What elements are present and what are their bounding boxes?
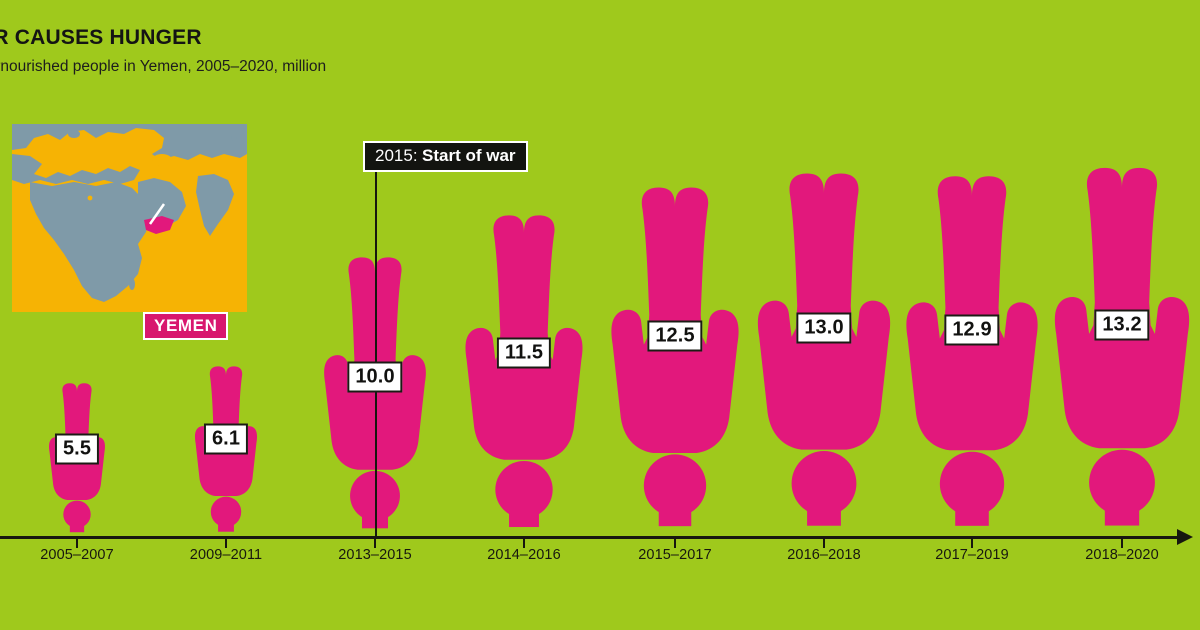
value-chip-label: 10.0	[355, 364, 394, 388]
infographic-canvas: AR CAUSES HUNGER dernourished people in …	[0, 0, 1200, 630]
value-chip-label: 13.0	[804, 316, 843, 340]
pictogram-neck	[70, 514, 84, 532]
map-island-madagascar	[125, 265, 131, 271]
value-chip: 6.1	[204, 424, 248, 455]
x-axis-tick-label: 2017–2019	[935, 547, 1008, 563]
map-label-text: YEMEN	[154, 316, 217, 335]
map-lake	[88, 196, 93, 201]
pictogram-neck	[509, 490, 539, 527]
value-chip: 12.5	[647, 321, 702, 352]
pictogram-figure	[465, 215, 582, 527]
pictogram-neck	[1105, 483, 1139, 526]
map-island-ne	[231, 135, 237, 141]
map-island-madagascar-2	[129, 278, 135, 290]
map-label-yemen: YEMEN	[143, 312, 228, 340]
value-chip: 11.5	[497, 337, 551, 368]
value-chip-label: 13.2	[1102, 313, 1141, 337]
value-chip: 10.0	[347, 361, 402, 392]
value-chip: 13.0	[796, 313, 851, 344]
pictogram-neck	[955, 484, 989, 526]
x-axis-tick-label: 2016–2018	[787, 547, 860, 563]
war-annotation-year: 2015:	[375, 146, 418, 165]
pictogram-neck	[218, 512, 234, 532]
pictogram-figure	[906, 176, 1037, 526]
value-chip-label: 6.1	[212, 427, 240, 451]
x-axis-line	[0, 536, 1185, 539]
map-island-britain	[68, 130, 80, 138]
page-title: AR CAUSES HUNGER	[0, 26, 698, 49]
header: AR CAUSES HUNGER dernourished people in …	[0, 26, 698, 75]
pictogram-body	[906, 176, 1037, 450]
value-chip-label: 12.5	[655, 324, 694, 348]
value-chip: 5.5	[55, 433, 99, 464]
war-annotation-box: 2015: Start of war	[363, 141, 528, 172]
pictogram-neck	[659, 486, 692, 527]
pictogram-body	[1055, 168, 1189, 448]
pictogram-body	[758, 173, 890, 449]
value-chip-label: 5.5	[63, 436, 91, 460]
x-axis-tick-label: 2013–2015	[338, 547, 411, 563]
war-annotation-event: Start of war	[422, 146, 516, 165]
map-inset: YEMEN	[12, 124, 247, 312]
x-axis-tick-label: 2005–2007	[40, 547, 113, 563]
x-axis-arrow-icon	[1177, 529, 1193, 545]
x-axis-tick-label: 2015–2017	[638, 547, 711, 563]
x-axis-tick-label: 2018–2020	[1085, 547, 1158, 563]
pictogram-figure	[758, 173, 890, 525]
war-marker-line	[375, 158, 377, 538]
pictogram-figure	[611, 187, 738, 526]
world-map-svg	[12, 124, 247, 312]
value-chip: 13.2	[1094, 310, 1149, 341]
pictogram-neck	[807, 483, 841, 525]
value-chip-label: 12.9	[952, 318, 991, 342]
x-axis-tick-label: 2014–2016	[487, 547, 560, 563]
map-caspian	[152, 154, 172, 166]
x-axis-tick-label: 2009–2011	[190, 547, 262, 563]
value-chip-label: 11.5	[505, 340, 543, 364]
pictogram-figure	[1055, 168, 1189, 526]
value-chip: 12.9	[944, 315, 999, 346]
page-subtitle: dernourished people in Yemen, 2005–2020,…	[0, 58, 698, 75]
